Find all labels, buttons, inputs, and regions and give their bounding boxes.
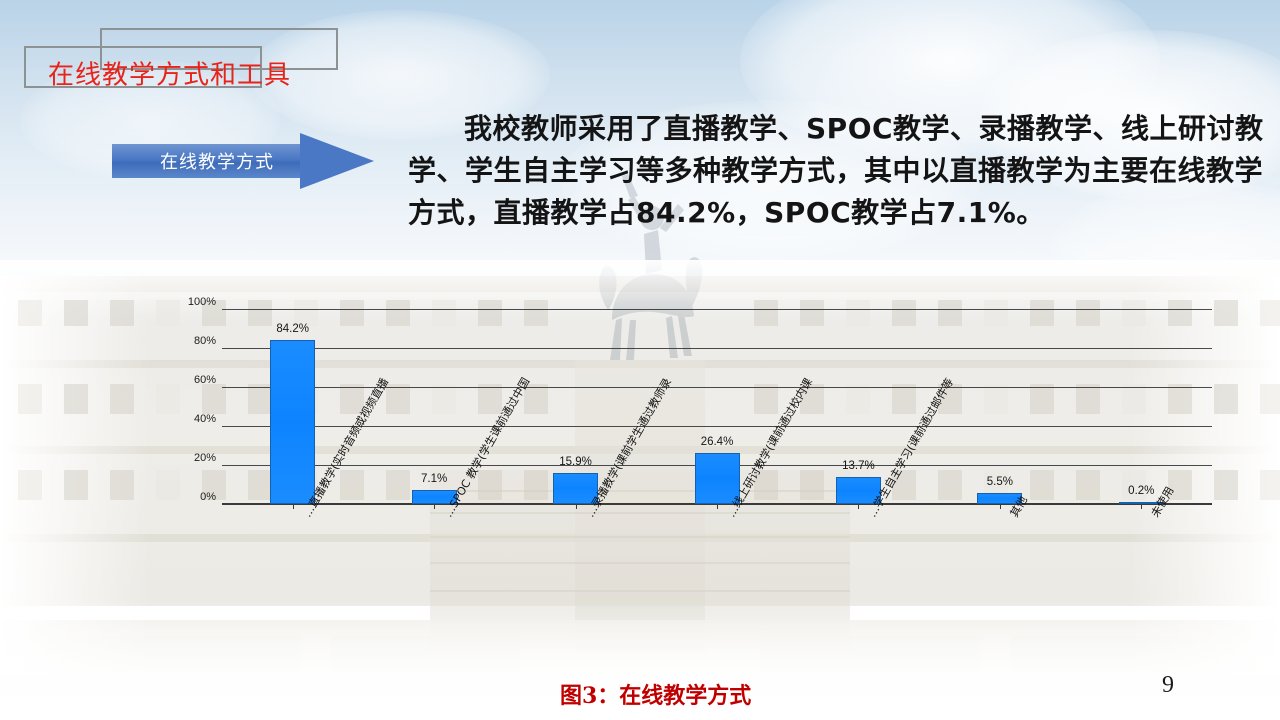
page-number: 9 xyxy=(1162,672,1174,699)
x-axis-tick xyxy=(434,504,435,509)
x-axis-category-label: 学生自主学习(课前通过邮件等… xyxy=(864,375,957,520)
y-axis-tick-label: 20% xyxy=(180,452,216,464)
body-paragraph: 我校教师采用了直播教学、SPOC教学、录播教学、线上研讨教学、学生自主学习等多种… xyxy=(408,108,1280,234)
bar-chart: 0%20%40%60%80%100%84.2%直播教学(实时音频或视频直播…7.… xyxy=(0,276,1280,676)
gridline xyxy=(222,426,1212,427)
x-axis-category-label: SPOC 教学(学生课前通过中国… xyxy=(440,375,533,520)
y-axis-tick-label: 80% xyxy=(180,335,216,347)
gridline xyxy=(222,309,1212,310)
x-axis-tick xyxy=(576,504,577,509)
y-axis-tick-label: 100% xyxy=(180,296,216,308)
bar-value-label: 5.5% xyxy=(960,476,1040,488)
y-axis-tick-label: 0% xyxy=(180,491,216,503)
bar-value-label: 15.9% xyxy=(536,456,616,468)
bar[interactable] xyxy=(270,340,315,504)
page-title: 在线教学方式和工具 xyxy=(48,55,291,92)
y-axis-tick-label: 40% xyxy=(180,413,216,425)
x-axis-tick xyxy=(1000,504,1001,509)
y-axis-tick-label: 60% xyxy=(180,374,216,386)
right-arrow-icon xyxy=(300,133,374,189)
x-axis-tick xyxy=(858,504,859,509)
bar-value-label: 26.4% xyxy=(677,436,757,448)
slide-canvas: 在线教学方式和工具 在线教学方式 我校教师采用了直播教学、SPOC教学、录播教学… xyxy=(0,0,1280,720)
x-axis-category-label: 录播教学(课前学生通过教师录… xyxy=(582,375,675,520)
x-axis-tick xyxy=(1141,504,1142,509)
title-block: 在线教学方式和工具 xyxy=(12,28,352,90)
arrow-label: 在线教学方式 xyxy=(160,148,274,174)
x-axis-tick xyxy=(293,504,294,509)
figure-caption: 图3：在线教学方式 xyxy=(560,678,751,710)
x-axis-tick xyxy=(717,504,718,509)
section-arrow-callout[interactable]: 在线教学方式 xyxy=(112,133,374,189)
bar-value-label: 84.2% xyxy=(253,323,333,335)
gridline xyxy=(222,348,1212,349)
